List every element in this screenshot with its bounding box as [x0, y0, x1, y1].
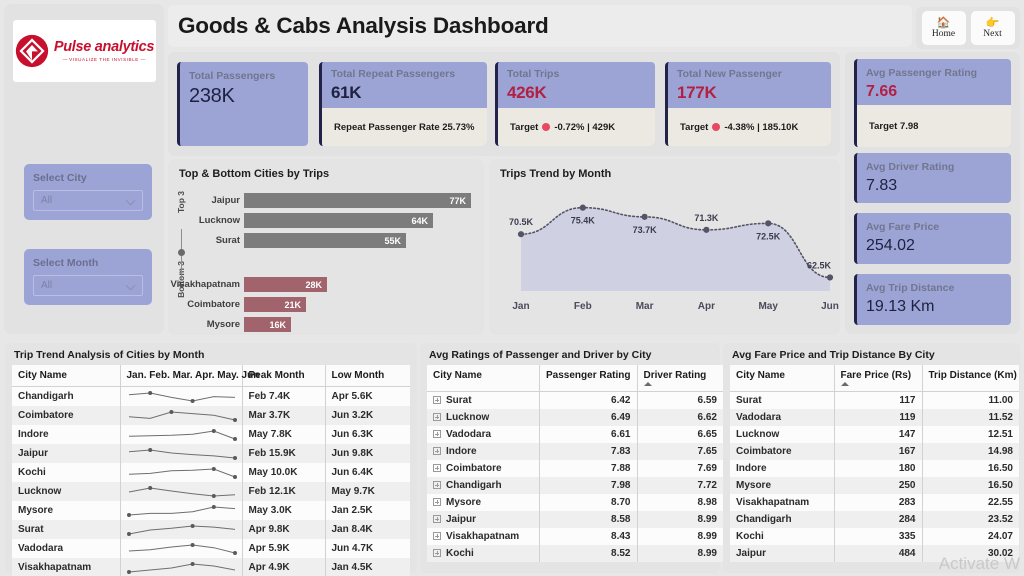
cell-city-name: Jaipur	[427, 511, 539, 528]
cell-sparkline	[120, 482, 242, 501]
kpi-title: Avg Fare Price	[866, 220, 1011, 234]
cell-city-name: Chandigarh	[730, 511, 834, 528]
expand-row-icon[interactable]	[433, 396, 441, 404]
cell-peak-month: Mar 3.7K	[242, 406, 325, 425]
bar-row[interactable]: Coimbatore21K	[244, 297, 306, 312]
kpi-avg-driver-rating[interactable]: Avg Driver Rating 7.83	[854, 153, 1011, 203]
table-row[interactable]: Lucknow6.496.62	[427, 409, 723, 426]
bar-category-label: Lucknow	[199, 215, 240, 226]
status-indicator-icon	[542, 123, 550, 131]
bar-category-label: Coimbatore	[187, 299, 240, 310]
kpi-target-label: Target	[680, 122, 708, 133]
brand-tagline: — VISUALIZE THE INVISIBLE —	[63, 57, 146, 62]
table-row[interactable]: JaipurFeb 15.9KJun 9.8K	[12, 444, 410, 463]
bar-chart-plot: Top 3 Bottom 3 Jaipur77KLucknow64KSurat5…	[168, 185, 478, 329]
cell-peak-month: Feb 15.9K	[242, 444, 325, 463]
cell-peak-month: Feb 12.1K	[242, 482, 325, 501]
cell-driver-rating: 6.59	[637, 392, 723, 409]
table-row[interactable]: Surat6.426.59	[427, 392, 723, 409]
cell-city-name: Coimbatore	[730, 443, 834, 460]
table-row[interactable]: CoimbatoreMar 3.7KJun 3.2K	[12, 406, 410, 425]
chart-title: Top & Bottom Cities by Trips	[168, 159, 484, 180]
cell-sparkline	[120, 387, 242, 407]
column-header-city-name[interactable]: City Name	[730, 365, 834, 392]
kpi-avg-fare-price[interactable]: Avg Fare Price 254.02	[854, 213, 1011, 264]
cell-trip-distance: 30.02	[922, 545, 1019, 562]
bar-row[interactable]: Jaipur77K	[244, 193, 471, 208]
cell-fare-price: 484	[834, 545, 922, 562]
cell-driver-rating: 8.99	[637, 511, 723, 528]
bar-value: 77K	[244, 193, 471, 208]
nav-buttons: 🏠 Home 👉 Next	[916, 7, 1020, 49]
cell-peak-month: May 10.0K	[242, 463, 325, 482]
kpi-target-label: Target	[510, 122, 538, 133]
home-icon: 🏠	[937, 17, 951, 29]
kpi-title: Total Trips	[507, 67, 655, 81]
data-point-marker[interactable]	[703, 227, 709, 233]
cell-driver-rating: 7.65	[637, 443, 723, 460]
right-kpi-column: Avg Passenger Rating 7.66 Target 7.98 Av…	[845, 52, 1020, 334]
column-header-months[interactable]: Jan. Feb. Mar. Apr. May. Jun	[120, 365, 242, 387]
column-header-passenger-rating[interactable]: Passenger Rating	[539, 365, 637, 392]
sort-ascending-icon	[644, 382, 652, 386]
cell-driver-rating: 8.99	[637, 545, 723, 562]
chart-trips-trend[interactable]: Trips Trend by Month 70.5K75.4K73.7K71.3…	[489, 159, 840, 335]
table-row[interactable]: Kochi8.528.99	[427, 545, 723, 562]
table-title: Trip Trend Analysis of Cities by Month	[5, 343, 417, 365]
table-row[interactable]: Surat11711.00	[730, 392, 1019, 409]
column-header-low-month[interactable]: Low Month	[325, 365, 410, 387]
cell-city-name: Mysore	[427, 494, 539, 511]
sparkline	[127, 465, 237, 480]
next-button[interactable]: 👉 Next	[971, 11, 1015, 45]
avg-ratings-table: City Name Passenger Rating Driver Rating…	[427, 365, 723, 562]
table-header-row: City Name Fare Price (Rs) Trip Distance …	[730, 365, 1019, 392]
table-header-row: City Name Jan. Feb. Mar. Apr. May. Jun P…	[12, 365, 410, 387]
data-point-label: 62.5K	[807, 260, 832, 270]
cell-sparkline	[120, 539, 242, 558]
status-indicator-icon	[712, 123, 720, 131]
cell-trip-distance: 12.51	[922, 426, 1019, 443]
cell-city-name: Surat	[730, 392, 834, 409]
cell-peak-month: Apr 5.9K	[242, 539, 325, 558]
axis-group-label-top: Top 3	[176, 191, 186, 213]
cell-passenger-rating: 8.58	[539, 511, 637, 528]
cell-city-name: Jaipur	[730, 545, 834, 562]
avg-fare-table: City Name Fare Price (Rs) Trip Distance …	[730, 365, 1019, 562]
sparkline	[127, 541, 237, 556]
table-row[interactable]: Jaipur48430.02	[730, 545, 1019, 562]
cell-city-name: Vadodara	[730, 409, 834, 426]
cell-low-month: Apr 5.6K	[325, 387, 410, 407]
cell-low-month: Jun 9.8K	[325, 444, 410, 463]
slicer-month-value: All	[41, 280, 52, 291]
expand-row-icon[interactable]	[433, 464, 441, 472]
kpi-strip: Total Passengers 238K Total Repeat Passe…	[168, 52, 840, 156]
table-row[interactable]: Mysore25016.50	[730, 477, 1019, 494]
area-fill	[521, 208, 830, 291]
kpi-footer: Target -4.38% | 185.10K	[665, 108, 831, 146]
cell-passenger-rating: 8.70	[539, 494, 637, 511]
sparkline	[127, 503, 237, 518]
cell-city-name: Chandigarh	[427, 477, 539, 494]
cell-trip-distance: 16.50	[922, 460, 1019, 477]
data-point-marker[interactable]	[580, 205, 586, 211]
table-row[interactable]: IndoreMay 7.8KJun 6.3K	[12, 425, 410, 444]
kpi-avg-trip-distance[interactable]: Avg Trip Distance 19.13 Km	[854, 274, 1011, 325]
cell-city-name: Lucknow	[730, 426, 834, 443]
trip-trend-body: ChandigarhFeb 7.4KApr 5.6KCoimbatoreMar …	[12, 387, 410, 576]
table-row[interactable]: LucknowFeb 12.1KMay 9.7K	[12, 482, 410, 501]
cell-city-name: Visakhapatnam	[730, 494, 834, 511]
cell-city-name: Lucknow	[427, 409, 539, 426]
table-row[interactable]: KochiMay 10.0KJun 6.4K	[12, 463, 410, 482]
brand-name: Pulse analytics	[54, 40, 154, 55]
cell-trip-distance: 11.52	[922, 409, 1019, 426]
x-axis-tick-label: May	[758, 301, 778, 312]
slicer-city-value: All	[41, 195, 52, 206]
kpi-target-value: -0.72% | 429K	[554, 122, 615, 133]
cell-fare-price: 284	[834, 511, 922, 528]
table-row[interactable]: Lucknow14712.51	[730, 426, 1019, 443]
kpi-value: 426K	[507, 83, 655, 103]
cell-low-month: Jun 4.7K	[325, 539, 410, 558]
cell-trip-distance: 22.55	[922, 494, 1019, 511]
table-row[interactable]: Coimbatore7.887.69	[427, 460, 723, 477]
data-point-marker[interactable]	[827, 274, 833, 280]
cell-low-month: Jun 3.2K	[325, 406, 410, 425]
cell-city-name: Kochi	[12, 463, 120, 482]
bar-row[interactable]: Mysore16K	[244, 317, 291, 332]
slicer-select-city[interactable]: Select City All	[24, 164, 152, 220]
bar-row[interactable]: Visakhapatnam28K	[244, 277, 327, 292]
cell-fare-price: 119	[834, 409, 922, 426]
cell-peak-month: Feb 7.4K	[242, 387, 325, 407]
kpi-total-passengers[interactable]: Total Passengers 238K	[177, 62, 308, 146]
table-row[interactable]: Chandigarh28423.52	[730, 511, 1019, 528]
cell-passenger-rating: 8.43	[539, 528, 637, 545]
table-title: Avg Ratings of Passenger and Driver by C…	[420, 343, 720, 365]
cell-passenger-rating: 6.49	[539, 409, 637, 426]
cell-driver-rating: 8.99	[637, 528, 723, 545]
sparkline	[127, 522, 237, 537]
kpi-value: 61K	[331, 83, 487, 103]
cell-trip-distance: 24.07	[922, 528, 1019, 545]
data-point-marker[interactable]	[518, 231, 524, 237]
cell-fare-price: 117	[834, 392, 922, 409]
cell-low-month: May 9.7K	[325, 482, 410, 501]
kpi-target-value: -4.38% | 185.10K	[724, 122, 798, 133]
cell-low-month: Jun 6.3K	[325, 425, 410, 444]
cell-city-name: Surat	[427, 392, 539, 409]
kpi-footer: Repeat Passenger Rate 25.73%	[319, 108, 487, 146]
expand-row-icon[interactable]	[433, 413, 441, 421]
chevron-down-icon	[127, 196, 136, 205]
cell-low-month: Jan 8.4K	[325, 520, 410, 539]
cell-peak-month: May 7.8K	[242, 425, 325, 444]
sparkline	[127, 389, 237, 404]
cell-city-name: Coimbatore	[12, 406, 120, 425]
bar-category-label: Mysore	[207, 319, 240, 330]
cell-passenger-rating: 8.52	[539, 545, 637, 562]
cell-passenger-rating: 7.88	[539, 460, 637, 477]
table-row[interactable]: VisakhapatnamApr 4.9KJan 4.5K	[12, 558, 410, 576]
cell-low-month: Jun 6.4K	[325, 463, 410, 482]
cell-city-name: Kochi	[730, 528, 834, 545]
cell-city-name: Indore	[730, 460, 834, 477]
table-row[interactable]: Visakhapatnam28322.55	[730, 494, 1019, 511]
bar-value: 64K	[244, 213, 433, 228]
cell-driver-rating: 8.98	[637, 494, 723, 511]
cell-city-name: Mysore	[730, 477, 834, 494]
cell-city-name: Mysore	[12, 501, 120, 520]
table-row[interactable]: Vadodara11911.52	[730, 409, 1019, 426]
cell-trip-distance: 16.50	[922, 477, 1019, 494]
table-row[interactable]: Indore7.837.65	[427, 443, 723, 460]
cell-sparkline	[120, 501, 242, 520]
cell-city-name: Chandigarh	[12, 387, 120, 407]
cell-peak-month: May 3.0K	[242, 501, 325, 520]
table-row[interactable]: Vadodara6.616.65	[427, 426, 723, 443]
cell-fare-price: 180	[834, 460, 922, 477]
cell-sparkline	[120, 444, 242, 463]
x-axis-tick-label: Jan	[512, 301, 529, 312]
kpi-title: Avg Driver Rating	[866, 160, 1011, 174]
table-row[interactable]: Visakhapatnam8.438.99	[427, 528, 723, 545]
cell-sparkline	[120, 406, 242, 425]
slicer-city-dropdown[interactable]: All	[33, 190, 143, 211]
table-row[interactable]: Kochi33524.07	[730, 528, 1019, 545]
slicer-month-label: Select Month	[33, 256, 143, 270]
data-point-marker[interactable]	[765, 220, 771, 226]
sort-ascending-icon	[841, 382, 849, 386]
column-header-fare-price[interactable]: Fare Price (Rs)	[834, 365, 922, 392]
column-header-peak-month[interactable]: Peak Month	[242, 365, 325, 387]
cell-fare-price: 283	[834, 494, 922, 511]
table-row[interactable]: VadodaraApr 5.9KJun 4.7K	[12, 539, 410, 558]
bar-category-label: Surat	[216, 235, 240, 246]
cell-passenger-rating: 7.98	[539, 477, 637, 494]
next-button-label: Next	[983, 29, 1001, 39]
kpi-title: Total New Passenger	[677, 67, 831, 81]
table-row[interactable]: SuratApr 9.8KJan 8.4K	[12, 520, 410, 539]
bar-row[interactable]: Surat55K	[244, 233, 406, 248]
dashboard-page: Pulse analytics — VISUALIZE THE INVISIBL…	[0, 0, 1024, 576]
kpi-value: 177K	[677, 83, 831, 103]
bar-value: 16K	[244, 317, 291, 332]
table-avg-ratings[interactable]: Avg Ratings of Passenger and Driver by C…	[420, 343, 720, 573]
kpi-value: 254.02	[866, 237, 1011, 255]
table-row[interactable]: ChandigarhFeb 7.4KApr 5.6K	[12, 387, 410, 407]
cell-sparkline	[120, 520, 242, 539]
axis-divider-dot	[178, 249, 185, 256]
column-header-city-name[interactable]: City Name	[12, 365, 120, 387]
cell-low-month: Jan 4.5K	[325, 558, 410, 576]
cell-city-name: Vadodara	[427, 426, 539, 443]
cell-fare-price: 167	[834, 443, 922, 460]
table-row[interactable]: Chandigarh7.987.72	[427, 477, 723, 494]
x-axis-tick-label: Feb	[574, 301, 592, 312]
avg-ratings-body: Surat6.426.59Lucknow6.496.62Vadodara6.61…	[427, 392, 723, 562]
cell-fare-price: 335	[834, 528, 922, 545]
expand-row-icon[interactable]	[433, 498, 441, 506]
kpi-title: Total Passengers	[189, 69, 308, 83]
data-point-label: 73.7K	[633, 225, 658, 235]
brand-logo: Pulse analytics — VISUALIZE THE INVISIBL…	[13, 20, 156, 82]
cell-city-name: Visakhapatnam	[12, 558, 120, 576]
cell-passenger-rating: 7.83	[539, 443, 637, 460]
sparkline	[127, 408, 237, 423]
sparkline	[127, 446, 237, 461]
x-axis-tick-label: Jun	[821, 301, 839, 312]
title-bar: Goods & Cabs Analysis Dashboard	[168, 5, 912, 47]
kpi-value: 7.83	[866, 177, 1011, 195]
expand-row-icon[interactable]	[433, 549, 441, 557]
cell-city-name: Coimbatore	[427, 460, 539, 477]
data-point-label: 71.3K	[694, 213, 719, 223]
table-row[interactable]: Jaipur8.588.99	[427, 511, 723, 528]
cell-city-name: Lucknow	[12, 482, 120, 501]
avg-fare-body: Surat11711.00Vadodara11911.52Lucknow1471…	[730, 392, 1019, 562]
page-title: Goods & Cabs Analysis Dashboard	[178, 13, 549, 39]
table-trip-trend-analysis[interactable]: Trip Trend Analysis of Cities by Month C…	[5, 343, 417, 573]
cell-trip-distance: 14.98	[922, 443, 1019, 460]
kpi-title: Avg Passenger Rating	[866, 66, 1011, 80]
sparkline	[127, 560, 237, 575]
kpi-total-new-passenger[interactable]: Total New Passenger 177K Target -4.38% |…	[665, 62, 831, 146]
cell-driver-rating: 7.69	[637, 460, 723, 477]
bar-value: 28K	[244, 277, 327, 292]
slicer-city-label: Select City	[33, 171, 143, 185]
chart-title: Trips Trend by Month	[489, 159, 840, 180]
cell-passenger-rating: 6.61	[539, 426, 637, 443]
cell-peak-month: Apr 4.9K	[242, 558, 325, 576]
slicer-select-month[interactable]: Select Month All	[24, 249, 152, 305]
bar-value: 21K	[244, 297, 306, 312]
expand-row-icon[interactable]	[433, 515, 441, 523]
cell-city-name: Visakhapatnam	[427, 528, 539, 545]
cell-fare-price: 250	[834, 477, 922, 494]
cell-sparkline	[120, 463, 242, 482]
kpi-footer: Target 7.98	[854, 105, 1011, 147]
kpi-avg-passenger-rating[interactable]: Avg Passenger Rating 7.66 Target 7.98	[854, 59, 1011, 147]
expand-row-icon[interactable]	[433, 430, 441, 438]
chevron-down-icon	[127, 281, 136, 290]
kpi-total-trips[interactable]: Total Trips 426K Target -0.72% | 429K	[495, 62, 655, 146]
cell-trip-distance: 11.00	[922, 392, 1019, 409]
cell-city-name: Indore	[427, 443, 539, 460]
slicer-month-dropdown[interactable]: All	[33, 275, 143, 296]
cell-driver-rating: 6.65	[637, 426, 723, 443]
cell-driver-rating: 7.72	[637, 477, 723, 494]
kpi-total-repeat-passengers[interactable]: Total Repeat Passengers 61K Repeat Passe…	[319, 62, 487, 146]
expand-row-icon[interactable]	[433, 481, 441, 489]
cell-passenger-rating: 6.42	[539, 392, 637, 409]
trip-trend-table: City Name Jan. Feb. Mar. Apr. May. Jun P…	[12, 365, 410, 576]
home-button-label: Home	[932, 29, 955, 39]
expand-row-icon[interactable]	[433, 532, 441, 540]
cell-trip-distance: 23.52	[922, 511, 1019, 528]
column-header-city-name[interactable]: City Name	[427, 365, 539, 392]
sparkline	[127, 484, 237, 499]
cell-city-name: Kochi	[427, 545, 539, 562]
data-point-label: 70.5K	[509, 217, 534, 227]
data-point-label: 75.4K	[571, 216, 596, 226]
cell-city-name: Vadodara	[12, 539, 120, 558]
left-rail: Pulse analytics — VISUALIZE THE INVISIBL…	[4, 4, 164, 334]
kpi-value: 238K	[189, 85, 308, 108]
data-point-label: 72.5K	[756, 231, 781, 241]
kpi-title: Total Repeat Passengers	[331, 67, 487, 81]
table-header-row: City Name Passenger Rating Driver Rating	[427, 365, 723, 392]
bar-category-label: Jaipur	[211, 195, 240, 206]
expand-row-icon[interactable]	[433, 447, 441, 455]
table-row[interactable]: Coimbatore16714.98	[730, 443, 1019, 460]
sparkline	[127, 427, 237, 442]
table-avg-fare-distance[interactable]: Avg Fare Price and Trip Distance By City…	[723, 343, 1020, 573]
x-axis-tick-label: Mar	[636, 301, 654, 312]
kpi-title: Avg Trip Distance	[866, 281, 1011, 295]
column-header-driver-rating[interactable]: Driver Rating	[637, 365, 723, 392]
table-row[interactable]: MysoreMay 3.0KJan 2.5K	[12, 501, 410, 520]
cell-sparkline	[120, 558, 242, 576]
chart-top-bottom-cities[interactable]: Top & Bottom Cities by Trips Top 3 Botto…	[168, 159, 484, 335]
bar-value: 55K	[244, 233, 406, 248]
cell-city-name: Jaipur	[12, 444, 120, 463]
pointing-hand-icon: 👉	[986, 17, 1000, 29]
cell-fare-price: 147	[834, 426, 922, 443]
table-row[interactable]: Indore18016.50	[730, 460, 1019, 477]
kpi-value: 19.13 Km	[866, 298, 1011, 316]
home-button[interactable]: 🏠 Home	[922, 11, 966, 45]
cell-low-month: Jan 2.5K	[325, 501, 410, 520]
bar-row[interactable]: Lucknow64K	[244, 213, 433, 228]
cell-city-name: Indore	[12, 425, 120, 444]
table-title: Avg Fare Price and Trip Distance By City	[723, 343, 1020, 365]
pulse-logo-icon	[15, 34, 49, 68]
cell-driver-rating: 6.62	[637, 409, 723, 426]
data-point-marker[interactable]	[642, 214, 648, 220]
kpi-value: 7.66	[866, 83, 1011, 101]
cell-peak-month: Apr 9.8K	[242, 520, 325, 539]
column-header-trip-distance[interactable]: Trip Distance (Km)	[922, 365, 1019, 392]
cell-sparkline	[120, 425, 242, 444]
trips-trend-plot: 70.5K75.4K73.7K71.3K72.5K62.5KJanFebMarA…	[489, 181, 840, 329]
x-axis-tick-label: Apr	[698, 301, 715, 312]
kpi-footer: Target -0.72% | 429K	[495, 108, 655, 146]
table-row[interactable]: Mysore8.708.98	[427, 494, 723, 511]
cell-city-name: Surat	[12, 520, 120, 539]
bar-category-label: Visakhapatnam	[170, 279, 240, 290]
